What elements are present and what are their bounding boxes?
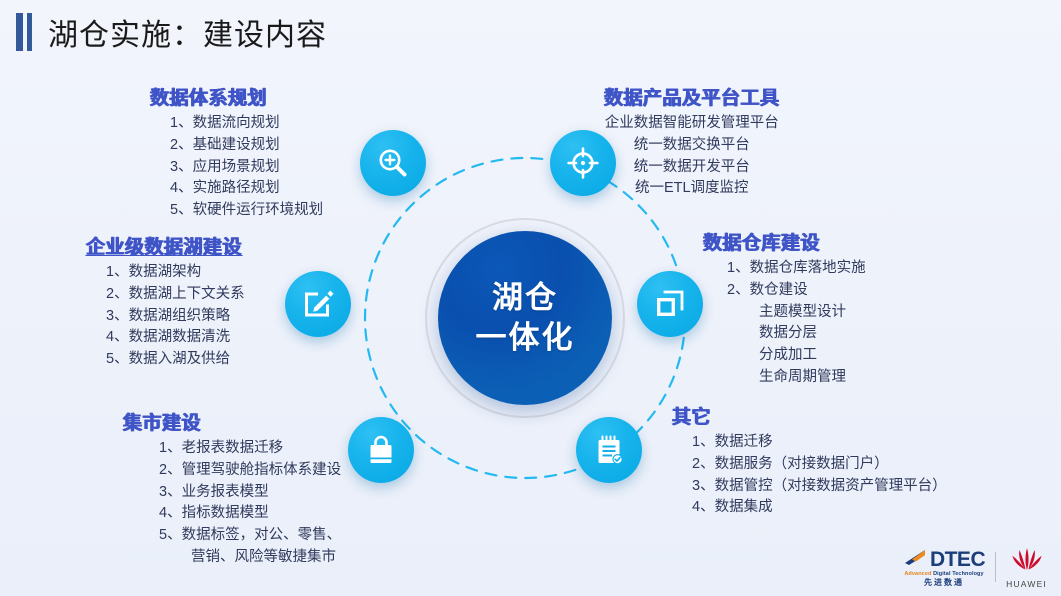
list-item: 2、数据湖上下文关系 — [106, 284, 245, 306]
list-item: 1、数据湖架构 — [106, 262, 245, 284]
node-data-lake[interactable] — [285, 271, 351, 337]
block-data-product-list: 企业数据智能研发管理平台 统一数据交换平台 统一数据开发平台 统一ETL调度监控 — [604, 113, 780, 200]
huawei-logo: HUAWEI — [1006, 547, 1047, 589]
dtec-logo-mark-row: DTEC — [903, 548, 985, 571]
list-item: 3、应用场景规划 — [170, 157, 323, 179]
list-item: 数据分层 — [727, 323, 866, 345]
list-item: 3、业务报表模型 — [159, 482, 341, 504]
center-line-1: 湖仓 — [492, 278, 558, 318]
list-item: 3、数据湖组织策略 — [106, 306, 245, 328]
dtec-arrow-icon — [903, 548, 929, 571]
list-item: 5、软硬件运行环境规划 — [170, 200, 323, 222]
list-item: 2、数据服务（对接数据门户） — [692, 454, 947, 476]
dtec-wordmark: DTEC — [930, 549, 985, 570]
edit-pencil-icon — [301, 287, 335, 321]
list-item: 4、实施路径规划 — [170, 178, 323, 200]
list-item: 4、数据湖数据清洗 — [106, 327, 245, 349]
list-item: 4、数据集成 — [692, 497, 947, 519]
slide-root: 湖仓实施：建设内容 湖仓 一体化 — [0, 0, 1061, 596]
list-item: 分成加工 — [727, 345, 866, 367]
block-data-mart-list: 1、老报表数据迁移 2、管理驾驶舱指标体系建设 3、业务报表模型 4、指标数据模… — [123, 438, 341, 569]
checklist-notepad-icon — [592, 433, 626, 467]
list-item: 1、数据流向规划 — [170, 113, 323, 135]
huawei-wordmark: HUAWEI — [1006, 580, 1047, 589]
list-item: 企业数据智能研发管理平台 — [604, 113, 780, 135]
block-data-warehouse: 数据仓库建设 1、数据仓库落地实施 2、数仓建设 主题模型设计 数据分层 分成加… — [703, 228, 866, 389]
block-others-list: 1、数据迁移 2、数据服务（对接数据门户） 3、数据管控（对接数据资产管理平台）… — [672, 432, 947, 519]
shopping-bag-icon — [364, 433, 398, 467]
copy-squares-icon — [653, 287, 687, 321]
block-data-product-heading: 数据产品及平台工具 — [604, 83, 780, 110]
title-bar-thick — [16, 13, 23, 51]
node-data-warehouse[interactable] — [637, 271, 703, 337]
block-others: 其它 1、数据迁移 2、数据服务（对接数据门户） 3、数据管控（对接数据资产管理… — [672, 402, 947, 519]
list-item: 5、数据入湖及供给 — [106, 349, 245, 371]
block-data-product: 数据产品及平台工具 企业数据智能研发管理平台 统一数据交换平台 统一数据开发平台… — [604, 83, 780, 200]
list-item: 营销、风险等敏捷集市 — [159, 547, 341, 569]
block-data-system-list: 1、数据流向规划 2、基础建设规划 3、应用场景规划 4、实施路径规划 5、软硬… — [150, 113, 323, 222]
block-data-mart: 集市建设 1、老报表数据迁移 2、管理驾驶舱指标体系建设 3、业务报表模型 4、… — [123, 408, 341, 569]
magnifier-plus-icon — [376, 146, 410, 180]
list-item: 统一数据交换平台 — [604, 135, 780, 157]
title-accent-bars — [16, 13, 32, 51]
block-data-warehouse-heading: 数据仓库建设 — [703, 228, 866, 255]
dtec-tagline-rest: Digital Technology — [931, 571, 983, 577]
page-title: 湖仓实施：建设内容 — [48, 10, 327, 54]
block-data-system-heading: 数据体系规划 — [150, 83, 323, 110]
list-item: 2、基础建设规划 — [170, 135, 323, 157]
list-item: 统一ETL调度监控 — [604, 178, 780, 200]
title-bar-thin — [27, 13, 32, 51]
list-item: 3、数据管控（对接数据资产管理平台） — [692, 476, 947, 498]
list-item: 5、数据标签，对公、零售、 — [159, 525, 341, 547]
list-item: 生命周期管理 — [727, 367, 866, 389]
center-line-2: 一体化 — [476, 318, 575, 358]
huawei-flower-icon — [1009, 547, 1045, 577]
center-concept-circle: 湖仓 一体化 — [438, 231, 612, 405]
dtec-logo: DTEC Advanced Digital Technology 先进数通 — [903, 548, 985, 587]
node-data-system[interactable] — [360, 130, 426, 196]
list-item: 1、数据仓库落地实施 — [727, 258, 866, 280]
list-item: 4、指标数据模型 — [159, 503, 341, 525]
dtec-tagline-advanced: Advanced — [904, 571, 931, 577]
list-item: 2、数仓建设 — [727, 280, 866, 302]
list-item: 1、老报表数据迁移 — [159, 438, 341, 460]
node-data-mart[interactable] — [348, 417, 414, 483]
dtec-tagline: Advanced Digital Technology — [904, 572, 983, 578]
block-data-mart-heading: 集市建设 — [123, 408, 341, 435]
list-item: 主题模型设计 — [727, 302, 866, 324]
logo-divider — [995, 552, 996, 582]
crosshair-target-icon — [566, 146, 600, 180]
list-item: 2、管理驾驶舱指标体系建设 — [159, 460, 341, 482]
block-data-lake-list: 1、数据湖架构 2、数据湖上下文关系 3、数据湖组织策略 4、数据湖数据清洗 5… — [86, 262, 245, 371]
block-data-warehouse-list: 1、数据仓库落地实施 2、数仓建设 主题模型设计 数据分层 分成加工 生命周期管… — [703, 258, 866, 389]
block-data-lake-heading: 企业级数据湖建设 — [86, 232, 245, 259]
block-data-lake: 企业级数据湖建设 1、数据湖架构 2、数据湖上下文关系 3、数据湖组织策略 4、… — [86, 232, 245, 371]
dtec-chinese-name: 先进数通 — [924, 579, 964, 587]
list-item: 1、数据迁移 — [692, 432, 947, 454]
slide-title-row: 湖仓实施：建设内容 — [14, 10, 327, 54]
block-others-heading: 其它 — [672, 402, 947, 429]
node-others[interactable] — [576, 417, 642, 483]
block-data-system: 数据体系规划 1、数据流向规划 2、基础建设规划 3、应用场景规划 4、实施路径… — [150, 83, 323, 222]
list-item: 统一数据开发平台 — [604, 157, 780, 179]
footer-logos: DTEC Advanced Digital Technology 先进数通 H — [903, 547, 1047, 589]
